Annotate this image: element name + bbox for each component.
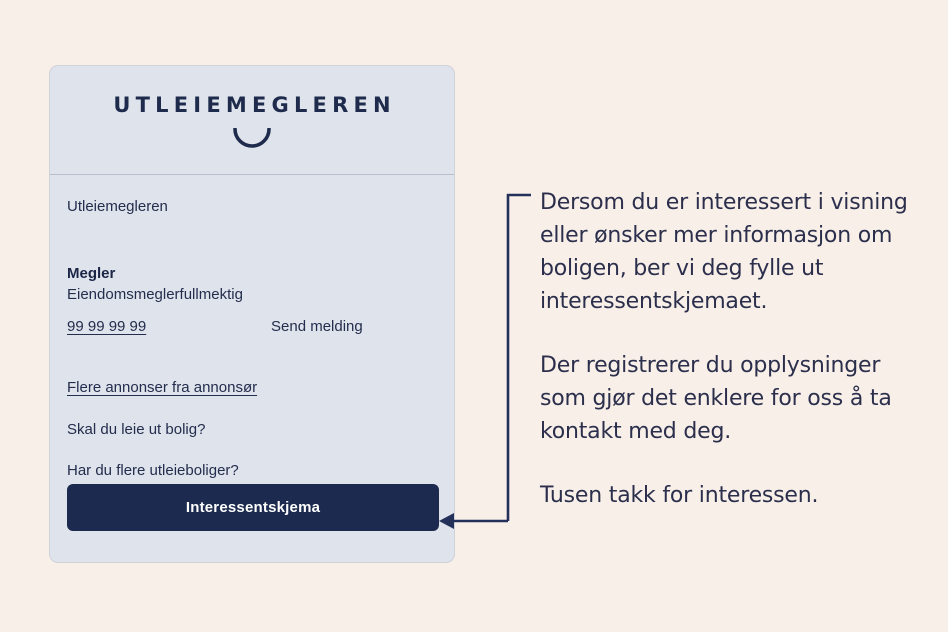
- annotation-paragraph-2: Der registrerer du opplysninger som gjør…: [540, 349, 916, 448]
- card-header: UTLEIEMEGLEREN: [50, 66, 454, 175]
- send-message-link[interactable]: Send melding: [271, 318, 363, 335]
- card-body: Utleiemegleren Megler Eiendomsmeglerfull…: [50, 175, 454, 562]
- more-rental-properties-link[interactable]: Har du flere utleieboliger?: [67, 462, 437, 479]
- broker-job-title: Eiendomsmeglerfullmektig: [67, 284, 437, 306]
- annotation-paragraph-1: Dersom du er interessert i visning eller…: [540, 186, 916, 318]
- annotation-text: Dersom du er interessert i visning eller…: [540, 186, 916, 512]
- agency-name: Utleiemegleren: [67, 197, 437, 217]
- agent-contact-card: UTLEIEMEGLEREN Utleiemegleren Megler Eie…: [49, 65, 455, 563]
- broker-role-title: Megler: [67, 264, 437, 284]
- more-ads-from-advertiser-link[interactable]: Flere annonser fra annonsør: [67, 379, 257, 396]
- smile-arc-icon: [50, 128, 454, 150]
- brand-wordmark: UTLEIEMEGLEREN: [50, 93, 454, 117]
- interest-form-button[interactable]: Interessentskjema: [67, 484, 439, 531]
- contact-row: 99 99 99 99 Send melding: [67, 318, 437, 335]
- broker-block: Megler Eiendomsmeglerfullmektig: [67, 264, 437, 306]
- annotation-paragraph-3: Tusen takk for interessen.: [540, 479, 916, 512]
- phone-link[interactable]: 99 99 99 99: [67, 318, 271, 335]
- rent-out-property-link[interactable]: Skal du leie ut bolig?: [67, 421, 437, 438]
